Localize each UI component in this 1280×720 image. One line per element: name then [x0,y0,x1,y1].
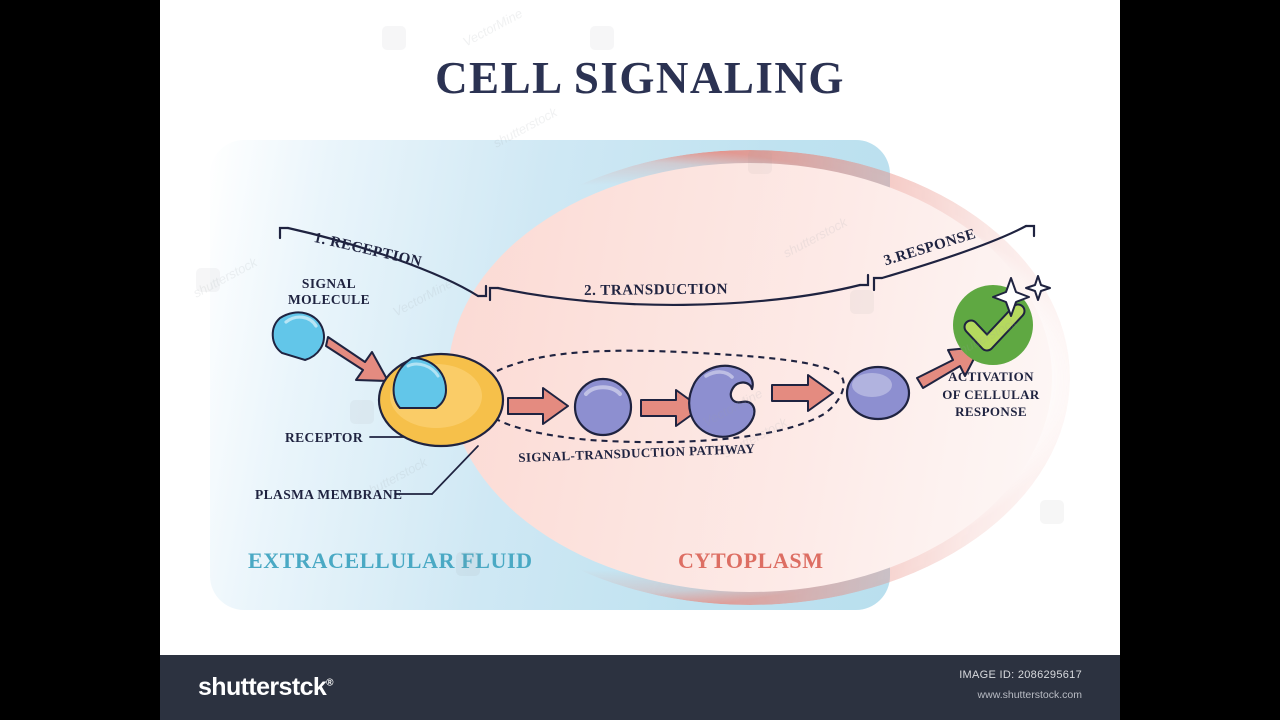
label-activation-line1: ACTIVATION [926,368,1056,386]
label-activation-line2: OF CELLULAR [926,386,1056,404]
shutterstock-url: www.shutterstock.com [978,689,1082,701]
label-plasma-membrane: PLASMA MEMBRANE [255,487,402,503]
shutterstock-logo-text: shutterst [198,673,300,701]
relay-protein-circle [575,379,631,435]
signal-molecule-free [273,312,324,360]
label-receptor: RECEPTOR [285,430,363,446]
registered-mark: ® [326,678,333,689]
label-signal-molecule-line2: MOLECULE [274,292,384,308]
label-activation-of-cellular-response: ACTIVATION OF CELLULAR RESPONSE [926,368,1056,421]
label-signal-molecule-line1: SIGNAL [274,276,384,292]
relay-protein-ellipse [847,367,909,419]
label-signal-molecule: SIGNAL MOLECULE [274,276,384,309]
arrow-signal-to-receptor [326,337,388,381]
relay-protein-crescent [689,366,754,437]
zone-label-extracellular-fluid: EXTRACELLULAR FLUID [248,548,533,574]
shutterstock-logo: shutterstck® [198,673,333,702]
illustration-panel: CELL SIGNALING [160,0,1120,655]
leader-line-plasma-membrane-2 [432,446,478,494]
shutterstock-logo-tail: ck [300,673,327,701]
arrow-relay-1 [508,388,568,424]
screenshot-root: CELL SIGNALING [0,0,1280,720]
label-activation-line3: RESPONSE [926,403,1056,421]
arrow-relay-3 [772,375,833,411]
image-id-text: IMAGE ID: 2086295617 [959,669,1082,681]
zone-label-cytoplasm: CYTOPLASM [678,548,824,574]
stage-label-transduction: 2. TRANSDUCTION [584,281,728,300]
shutterstock-footer: shutterstck® IMAGE ID: 2086295617 www.sh… [160,655,1120,720]
